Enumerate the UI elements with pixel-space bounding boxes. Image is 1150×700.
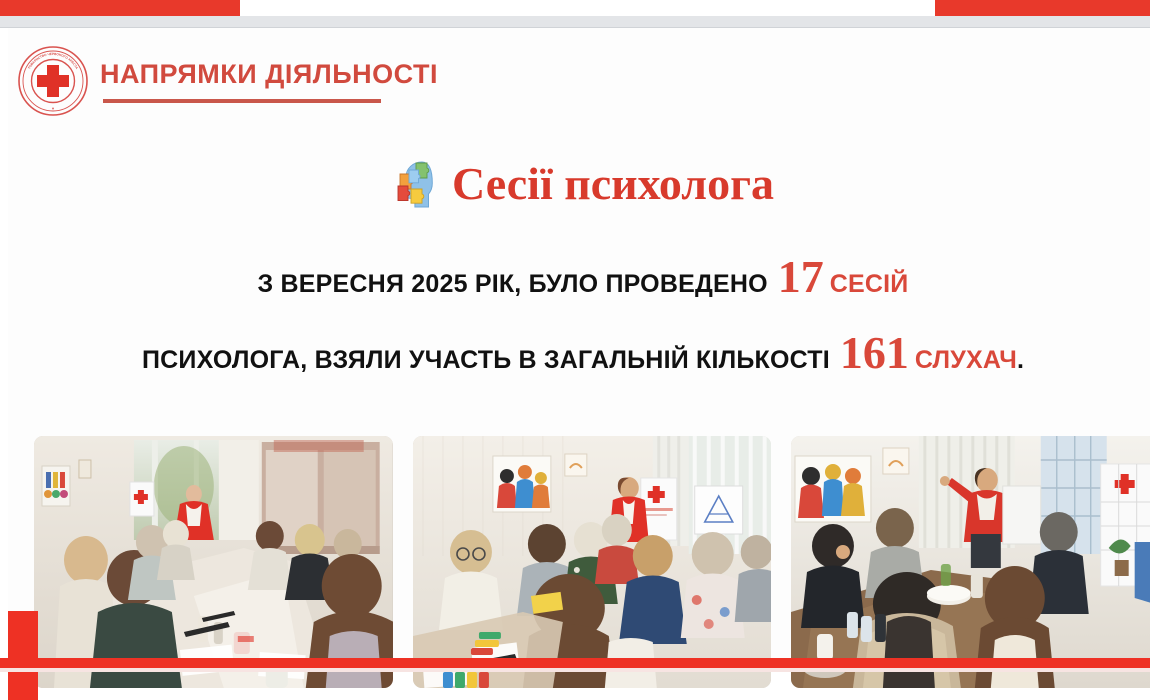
window-divider (0, 16, 1150, 28)
slide-header: ТОВАРИСТВО ЧЕРВОНОГО ХРЕСТА НАПРЯМКИ ДІЯ… (16, 44, 438, 118)
statement-line-2: ПСИХОЛОГА, ВЗЯЛИ УЧАСТЬ В ЗАГАЛЬНІЙ КІЛЬ… (8, 330, 1150, 376)
window-top-bar-left (0, 0, 240, 16)
photo-gallery (34, 436, 1150, 688)
statement-line2-lead: ПСИХОЛОГА, ВЗЯЛИ УЧАСТЬ В ЗАГАЛЬНІЙ КІЛЬ… (142, 346, 830, 374)
statement-line1-lead: З ВЕРЕСНЯ 2025 РІК, БУЛО ПРОВЕДЕНО (258, 270, 768, 298)
statistics-statement: З ВЕРЕСНЯ 2025 РІК, БУЛО ПРОВЕДЕНО17СЕСІ… (8, 254, 1150, 376)
accent-bar-bottom-shadow (0, 668, 1150, 672)
slide-canvas: ТОВАРИСТВО ЧЕРВОНОГО ХРЕСТА НАПРЯМКИ ДІЯ… (8, 28, 1150, 672)
window-top-bar-right (935, 0, 1150, 16)
puzzle-head-icon (392, 156, 440, 212)
section-heading: Сесії психолога (8, 156, 1150, 212)
statement-line-1: З ВЕРЕСНЯ 2025 РІК, БУЛО ПРОВЕДЕНО17СЕСІ… (8, 254, 1150, 300)
section-title: Сесії психолога (452, 161, 774, 207)
listeners-unit: СЛУХАЧ (915, 346, 1017, 374)
sessions-unit: СЕСІЙ (830, 270, 909, 298)
red-cross-society-of-ukraine-seal-icon: ТОВАРИСТВО ЧЕРВОНОГО ХРЕСТА (16, 44, 90, 118)
header-text-block: НАПРЯМКИ ДІЯЛЬНОСТІ (100, 59, 438, 103)
header-underline (103, 99, 381, 103)
page-title: НАПРЯМКИ ДІЯЛЬНОСТІ (100, 59, 438, 90)
listeners-count: 161 (840, 327, 909, 378)
photo-group-session-winter (791, 436, 1150, 688)
accent-bar-left (8, 611, 38, 700)
sessions-count: 17 (778, 251, 824, 302)
photo-group-session-long-table (34, 436, 393, 688)
statement-period: . (1017, 346, 1024, 374)
photo-group-session-worksheets (413, 436, 772, 688)
